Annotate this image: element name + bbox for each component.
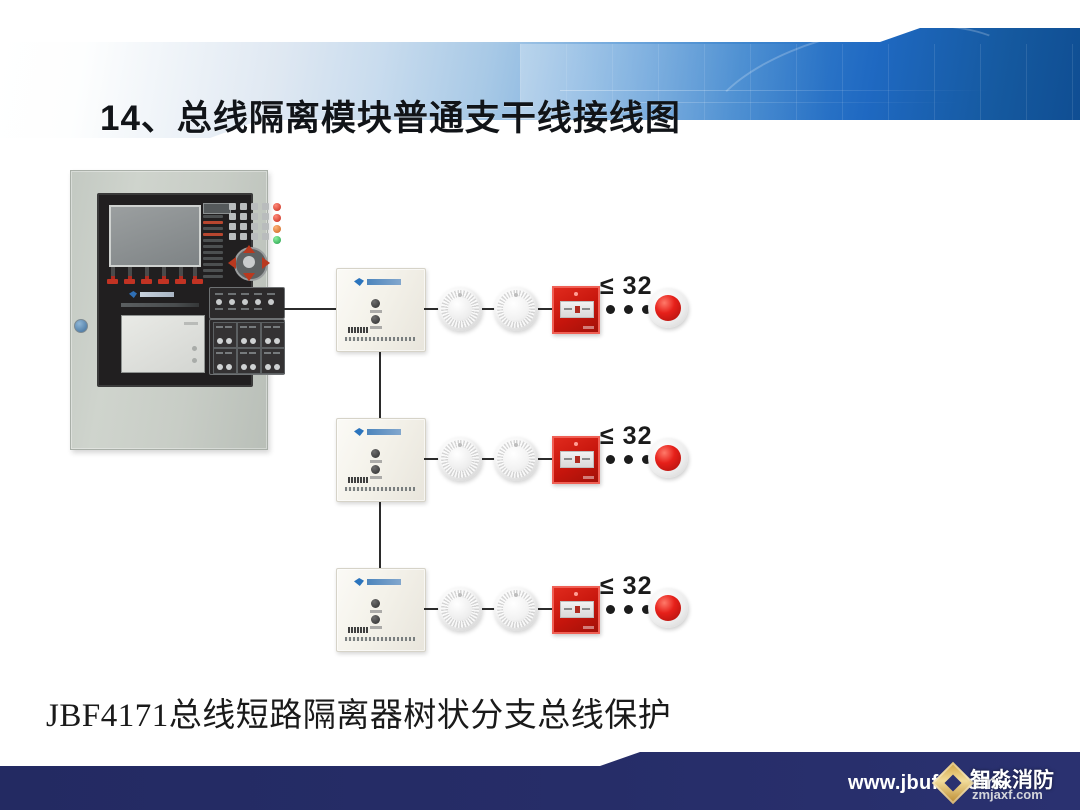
manual-call-point[interactable] [552,286,600,334]
cabinet-lock-knob[interactable] [74,319,88,333]
call-point-press-plate[interactable] [560,601,594,618]
detector-cap [448,447,472,471]
brand-mark-icon [354,578,364,586]
isolator-module[interactable] [336,268,426,352]
zone-button-cluster[interactable] [213,348,237,374]
panel-numeric-keypad[interactable] [229,203,269,241]
zone-button-cluster[interactable] [261,348,285,374]
alarm-beacon[interactable] [648,588,688,628]
detector-cap [448,297,472,321]
module-led-label-2 [370,626,382,629]
brand-wordmark [367,279,401,285]
call-point-led-icon [574,292,578,296]
brand-wordmark [367,579,401,585]
alarm-beacon[interactable] [648,438,688,478]
panel-model-text [121,303,199,307]
module-brand-logo [354,278,404,287]
brand-wordmark [367,429,401,435]
panel-face [97,193,253,387]
detector-led-icon [514,293,518,297]
isolator-module[interactable] [336,418,426,502]
call-point-label [583,626,594,629]
module-led-label-2 [370,476,382,479]
module-led-indicator-2 [371,615,380,624]
brand-mark-icon [354,428,364,436]
ellipsis-indicator [606,605,651,614]
panel-printer-window [121,315,205,373]
panel-dpad-navigation[interactable] [227,245,271,281]
brand-mark-icon [354,278,364,286]
module-manufacturer-text [345,337,417,341]
zone-button-cluster[interactable] [213,322,237,348]
module-code-text [348,627,368,633]
printer-reset-button[interactable] [192,358,197,363]
dpad-left-arrow-icon[interactable] [228,257,236,269]
diagram-caption: JBF4171总线短路隔离器树状分支总线保护 [46,688,946,736]
detector-led-icon [458,293,462,297]
panel-lcd-screen [109,205,201,267]
module-led-indicator-1 [371,449,380,458]
device-limit-label: ≤ 32 [600,272,652,301]
slide-header: 14、总线隔离模块普通支干线接线图 [0,28,1080,138]
module-led-indicator-1 [371,299,380,308]
module-led-indicator-2 [371,465,380,474]
zone-button-cluster[interactable] [237,348,261,374]
detector-cap [503,596,529,622]
detector-cap [503,296,529,322]
module-manufacturer-text [345,487,417,491]
panel-button-bank-grid[interactable] [209,319,285,375]
detector-led-icon [514,443,518,447]
panel-display-module [203,203,231,214]
detector-led-icon [458,593,462,597]
device-limit-label: ≤ 32 [600,572,652,601]
module-brand-logo [354,578,404,587]
slide-title: 14、总线隔离模块普通支干线接线图 [100,90,960,141]
panel-brand-logo [129,291,191,299]
panel-button-bank-top[interactable] [209,287,285,319]
smoke-detector[interactable] [438,287,482,331]
call-point-press-plate[interactable] [560,451,594,468]
dpad-center-button[interactable] [243,256,255,268]
heat-detector[interactable] [494,437,538,481]
printer-paper-slot [184,322,198,325]
module-manufacturer-text [345,637,417,641]
manual-call-point[interactable] [552,436,600,484]
dpad-down-arrow-icon[interactable] [243,273,255,281]
ellipsis-indicator [606,305,651,314]
module-led-label-2 [370,326,382,329]
ellipsis-indicator [606,455,651,464]
module-led-label-1 [370,310,382,313]
device-limit-label: ≤ 32 [600,422,652,451]
brand-mark-icon [129,291,137,298]
detector-cap [448,597,472,621]
detector-cap [503,446,529,472]
detector-led-icon [458,443,462,447]
slide-canvas: 14、总线隔离模块普通支干线接线图 [0,0,1080,810]
fire-alarm-control-panel[interactable] [70,170,268,450]
isolator-module[interactable] [336,568,426,652]
beacon-red-dome [655,445,681,471]
heat-detector[interactable] [494,587,538,631]
brand-wordmark [140,292,174,297]
printer-feed-button[interactable] [192,346,197,351]
smoke-detector[interactable] [438,587,482,631]
zone-button-cluster[interactable] [237,322,261,348]
panel-function-label-strip [203,215,225,281]
module-code-text [348,327,368,333]
module-led-indicator-1 [371,599,380,608]
module-code-text [348,477,368,483]
module-brand-logo [354,428,404,437]
beacon-red-dome [655,595,681,621]
smoke-detector[interactable] [438,437,482,481]
call-point-led-icon [574,442,578,446]
watermark: 智淼消防 zmjaxf.com [938,762,1070,804]
module-led-label-1 [370,460,382,463]
alarm-beacon[interactable] [648,288,688,328]
detector-led-icon [514,593,518,597]
beacon-red-dome [655,295,681,321]
module-led-label-1 [370,610,382,613]
dpad-right-arrow-icon[interactable] [262,257,270,269]
manual-call-point[interactable] [552,586,600,634]
call-point-label [583,326,594,329]
call-point-flame-icon [575,606,580,613]
panel-indicator-led-row [107,279,207,286]
watermark-subtitle: zmjaxf.com [972,787,1043,802]
call-point-flame-icon [575,456,580,463]
call-point-led-icon [574,592,578,596]
zone-button-cluster[interactable] [261,322,285,348]
call-point-flame-icon [575,306,580,313]
wiring-diagram: ≤ 32 [0,150,1080,670]
call-point-label [583,476,594,479]
heat-detector[interactable] [494,287,538,331]
module-led-indicator-2 [371,315,380,324]
dpad-up-arrow-icon[interactable] [243,245,255,253]
call-point-press-plate[interactable] [560,301,594,318]
panel-status-leds [273,203,283,251]
